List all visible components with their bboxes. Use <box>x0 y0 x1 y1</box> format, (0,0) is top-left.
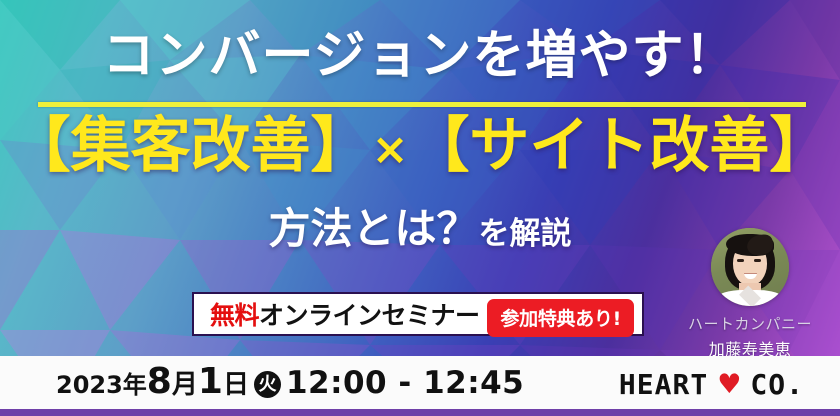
headline-right: 【サイト改善】 <box>409 111 829 181</box>
seminar-bar: 無料オンラインセミナー 参加特典あり! <box>192 292 644 336</box>
headline: 【集客改善】×【サイト改善】 <box>0 116 840 176</box>
presenter-block: ハートカンパニー 加藤寿美恵 <box>668 228 832 360</box>
logo-text-left: HEART <box>619 368 708 401</box>
event-month-number: 8 <box>147 361 172 402</box>
logo-text-right: CO. <box>750 368 804 401</box>
event-day-number: 1 <box>198 361 223 402</box>
presenter-company: ハートカンパニー <box>668 313 832 334</box>
bonus-badge: 参加特典あり! <box>487 299 634 337</box>
seminar-type-label: オンラインセミナー <box>259 301 480 330</box>
yellow-divider-rule <box>38 102 806 107</box>
event-year: 2023年 <box>56 371 147 399</box>
company-logo: HEART ♥ CO. <box>619 368 804 401</box>
event-weekday-badge: 火 <box>254 371 281 398</box>
page-title: コンバージョンを増やす！ <box>0 30 840 82</box>
heart-icon: ♥ <box>717 371 741 398</box>
subheadline-suffix: を解説 <box>479 216 572 252</box>
bottom-accent-strip <box>0 409 840 416</box>
event-time: 12:00 - 12:45 <box>286 365 524 401</box>
seminar-banner: コンバージョンを増やす！ 【集客改善】×【サイト改善】 方法とは？を解説 無料オ… <box>0 0 840 416</box>
event-datetime: 2023年8月1日火12:00 - 12:45 <box>56 364 524 406</box>
headline-separator: × <box>371 124 410 175</box>
presenter-avatar <box>711 228 789 306</box>
seminar-free-label: 無料 <box>210 301 259 330</box>
seminar-label: 無料オンラインセミナー <box>210 296 480 332</box>
event-day-unit: 日 <box>223 370 249 400</box>
subheadline-main: 方法とは？ <box>268 204 478 253</box>
footer-bar: 2023年8月1日火12:00 - 12:45 HEART ♥ CO. <box>0 356 840 409</box>
headline-left: 【集客改善】 <box>11 111 371 181</box>
event-month-unit: 月 <box>172 370 198 400</box>
